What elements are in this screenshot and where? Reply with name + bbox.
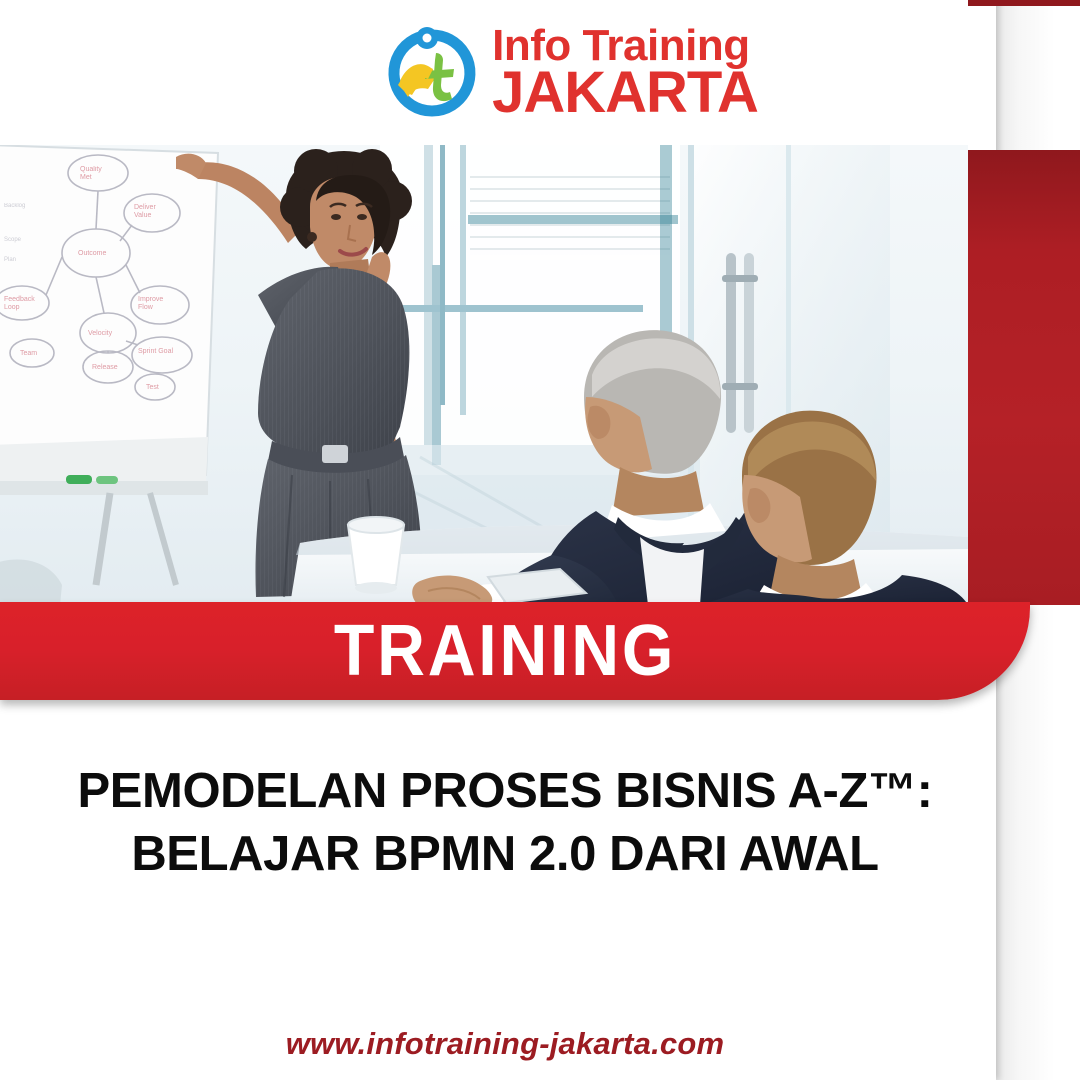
svg-text:Loop: Loop [4,304,20,311]
svg-text:Test: Test [146,384,159,391]
top-red-nub [968,0,1080,6]
svg-text:Quality: Quality [80,166,102,173]
right-red-strip [968,150,1080,605]
svg-text:Met: Met [80,174,92,181]
brand-line-1: Info Training [492,26,758,66]
svg-text:Value: Value [134,212,151,219]
svg-text:Feedback: Feedback [4,296,35,303]
svg-text:Sprint Goal: Sprint Goal [138,348,173,355]
svg-text:Team: Team [20,350,37,357]
website-url[interactable]: www.infotraining-jakarta.com [0,1026,1010,1062]
svg-text:Release: Release [92,364,118,371]
title-line-2: BELAJAR BPMN 2.0 DARI AWAL [26,823,984,886]
poster-header: Info Training JAKARTA [0,0,996,145]
training-banner: TRAINING [0,602,1030,700]
svg-text:Plan: Plan [4,257,16,263]
title-line-1: PEMODELAN PROSES BISNIS A-Z™: [26,760,984,823]
svg-text:Scope: Scope [4,237,22,243]
svg-text:Backlog: Backlog [4,203,25,209]
svg-text:Velocity: Velocity [88,330,113,337]
brand-logo-words: Info Training JAKARTA [492,26,758,120]
svg-text:Deliver: Deliver [134,204,156,211]
training-banner-label: TRAINING [334,610,676,692]
it-person-circle-logo-icon [378,19,486,127]
svg-text:Improve: Improve [138,296,163,303]
business-training-meeting-photo: Outcome Quality Met Deliver Value Veloci… [0,145,968,605]
brand-line-2: JAKARTA [492,67,758,119]
svg-text:Flow: Flow [138,304,154,311]
training-poster: Info Training JAKARTA [0,0,1080,1080]
brand-logo: Info Training JAKARTA [378,19,758,127]
page-title: PEMODELAN PROSES BISNIS A-Z™: BELAJAR BP… [0,760,1010,885]
svg-text:Outcome: Outcome [78,250,107,257]
